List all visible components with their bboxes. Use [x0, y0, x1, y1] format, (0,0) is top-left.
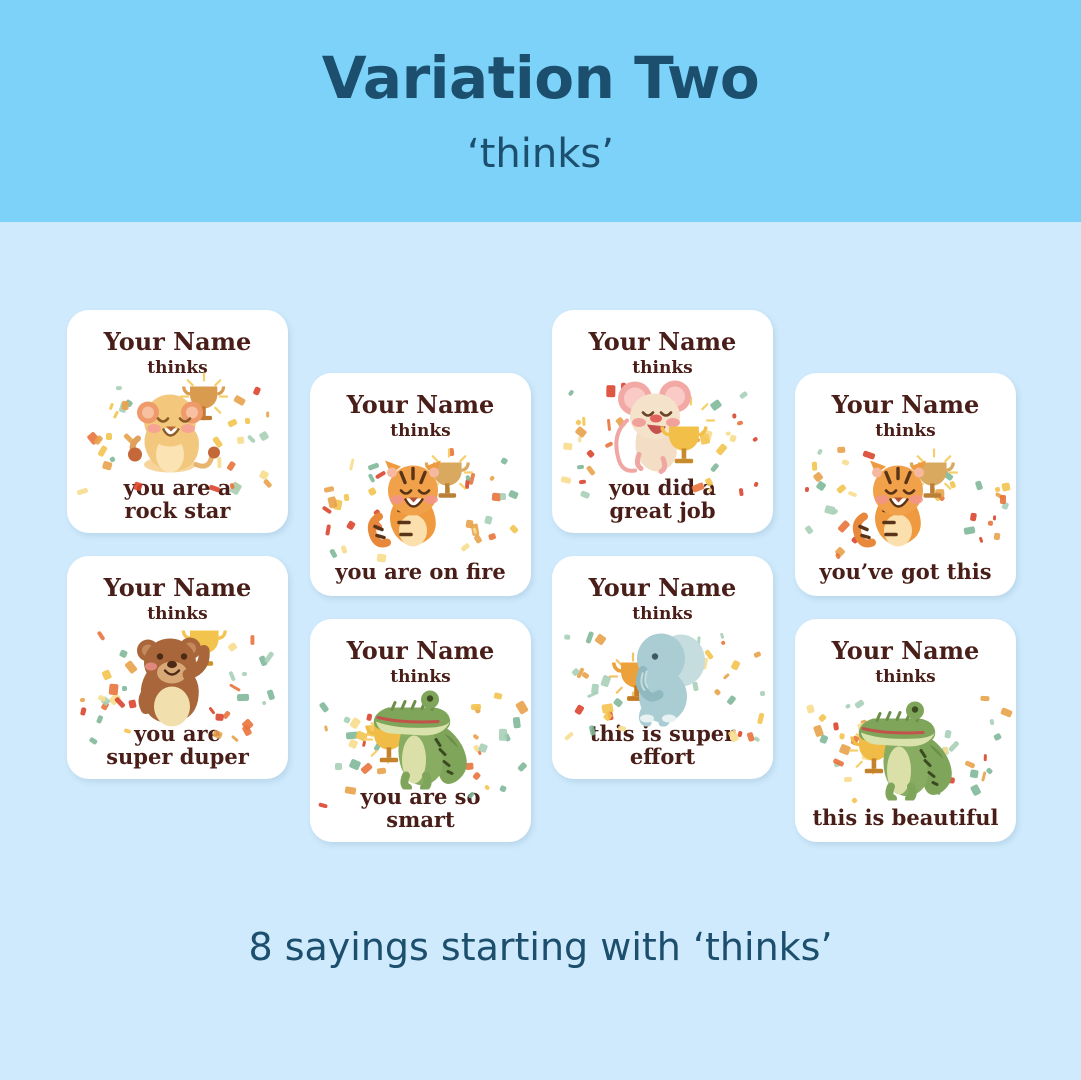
confetti-piece [813, 472, 824, 483]
confetti-piece [969, 513, 976, 522]
confetti-piece [582, 417, 586, 427]
confetti-piece [237, 694, 249, 701]
confetti-piece [324, 725, 328, 732]
sticker-card[interactable]: Your Namethinks this is supereffort [552, 556, 773, 779]
confetti-piece [335, 762, 343, 769]
card-saying: you are on fire [318, 560, 523, 584]
confetti-piece [574, 704, 585, 716]
confetti-piece [1000, 707, 1013, 718]
confetti-piece [574, 426, 587, 438]
confetti-piece [813, 461, 818, 471]
card-verb: thinks [875, 423, 935, 440]
confetti-piece [732, 413, 736, 418]
mouse-illustration [603, 369, 723, 486]
sticker-card[interactable]: Your Namethinks you did agreat job [552, 310, 773, 533]
card-name-placeholder: Your Name [832, 639, 980, 663]
tiger-illustration [361, 443, 481, 560]
confetti-piece [106, 433, 112, 441]
card-artwork [310, 442, 531, 560]
tiger-illustration [846, 443, 966, 560]
confetti-piece [266, 689, 275, 700]
confetti-piece [500, 493, 506, 500]
confetti-piece [97, 630, 106, 641]
confetti-piece [978, 537, 983, 543]
confetti-piece [109, 456, 116, 463]
sticker-preview-page: Variation Two ‘thinks’ Your Namethinks [0, 0, 1081, 1080]
card-saying: you’ve got this [803, 560, 1008, 584]
confetti-piece [993, 533, 1000, 541]
confetti-piece [993, 515, 997, 521]
bear-illustration [118, 615, 238, 732]
card-name-placeholder: Your Name [104, 330, 252, 354]
confetti-piece [752, 437, 759, 444]
confetti-piece [585, 631, 594, 644]
confetti-piece [109, 403, 114, 410]
card-verb: thinks [390, 423, 450, 440]
confetti-piece [517, 762, 528, 773]
confetti-piece [487, 532, 496, 540]
confetti-piece [264, 651, 275, 663]
confetti-piece [259, 431, 270, 442]
sticker-card[interactable]: Your Namethinks you aresuper duper [67, 556, 288, 779]
card-verb: thinks [875, 669, 935, 686]
confetti-piece [347, 738, 357, 748]
card-artwork [795, 442, 1016, 560]
confetti-piece [818, 714, 827, 723]
page-subtitle: ‘thinks’ [467, 131, 614, 177]
confetti-piece [329, 548, 338, 558]
crocodile-illustration [358, 678, 484, 795]
confetti-piece [568, 389, 575, 396]
confetti-piece [242, 672, 247, 676]
confetti-piece [576, 464, 584, 469]
card-name-placeholder: Your Name [347, 639, 495, 663]
confetti-piece [349, 459, 355, 471]
confetti-piece [325, 524, 331, 535]
confetti-piece [833, 722, 839, 731]
confetti-piece [341, 544, 348, 553]
card-artwork [795, 688, 1016, 806]
confetti-piece [508, 490, 519, 500]
confetti-piece [101, 669, 112, 681]
footer-caption: 8 sayings starting with ‘thinks’ [0, 925, 1081, 969]
card-name-placeholder: Your Name [589, 330, 737, 354]
confetti-piece [806, 705, 815, 715]
confetti-piece [247, 434, 256, 443]
confetti-piece [805, 487, 809, 492]
confetti-piece [819, 735, 828, 745]
confetti-piece [985, 768, 993, 776]
page-title: Variation Two [322, 48, 760, 109]
confetti-piece [723, 673, 730, 680]
confetti-piece [995, 486, 1002, 492]
confetti-piece [250, 635, 254, 645]
sticker-card[interactable]: Your Namethinks you are arock star [67, 310, 288, 533]
confetti-piece [494, 693, 503, 701]
confetti-piece [80, 697, 85, 702]
confetti-piece [319, 701, 330, 712]
confetti-piece [564, 634, 571, 639]
confetti-piece [729, 435, 737, 444]
confetti-piece [327, 496, 338, 508]
card-artwork [67, 625, 288, 722]
confetti-piece [579, 479, 586, 484]
card-name-placeholder: Your Name [104, 576, 252, 600]
confetti-piece [484, 515, 492, 524]
card-artwork [552, 625, 773, 722]
confetti-piece [816, 448, 823, 455]
confetti-piece [1000, 495, 1006, 504]
confetti-piece [980, 695, 989, 701]
confetti-piece [964, 526, 976, 535]
confetti-piece [759, 691, 765, 697]
confetti-piece [987, 520, 992, 525]
confetti-piece [563, 443, 572, 451]
confetti-piece [970, 769, 979, 778]
confetti-piece [512, 717, 521, 729]
confetti-piece [983, 754, 987, 761]
confetti-piece [261, 700, 267, 706]
sticker-card[interactable]: Your Namethinks you’ve got this [795, 373, 1016, 596]
header-banner: Variation Two ‘thinks’ [0, 0, 1081, 222]
lion-cub-illustration [118, 369, 238, 486]
card-name-placeholder: Your Name [832, 393, 980, 417]
confetti-piece [500, 456, 508, 464]
confetti-piece [80, 706, 86, 715]
sticker-card[interactable]: Your Namethinks you are sosmart [310, 619, 531, 842]
confetti-piece [499, 729, 507, 741]
confetti-piece [753, 651, 761, 658]
confetti-piece [975, 480, 983, 490]
sticker-card[interactable]: Your Namethinks you are on fire [310, 373, 531, 596]
card-artwork [552, 379, 773, 476]
confetti-piece [345, 521, 355, 531]
confetti-piece [509, 524, 519, 534]
confetti-piece [586, 449, 595, 459]
card-name-placeholder: Your Name [347, 393, 495, 417]
confetti-piece [586, 465, 596, 476]
sticker-card[interactable]: Your Namethinks this is beautiful [795, 619, 1016, 842]
confetti-piece [736, 420, 743, 425]
crocodile-illustration [843, 689, 969, 806]
confetti-piece [236, 436, 244, 444]
confetti-piece [343, 494, 349, 502]
confetti-piece [1002, 482, 1011, 491]
confetti-piece [252, 386, 260, 395]
confetti-piece [990, 719, 996, 726]
sticker-grid: Your Namethinks you are arock starYour N… [0, 222, 1081, 925]
confetti-piece [970, 784, 981, 796]
card-artwork [310, 688, 531, 785]
confetti-piece [726, 694, 737, 705]
confetti-piece [323, 486, 333, 492]
confetti-piece [582, 672, 591, 680]
confetti-piece [804, 524, 814, 534]
confetti-piece [489, 475, 496, 482]
confetti-piece [993, 732, 1002, 740]
card-saying: this is beautiful [803, 806, 1008, 830]
confetti-piece [739, 391, 749, 400]
confetti-piece [730, 660, 740, 671]
confetti-piece [266, 412, 269, 418]
confetti-piece [97, 445, 108, 458]
confetti-piece [515, 700, 529, 715]
confetti-piece [981, 771, 986, 781]
confetti-piece [245, 418, 250, 424]
card-name-placeholder: Your Name [589, 576, 737, 600]
confetti-piece [575, 419, 582, 426]
card-artwork [67, 379, 288, 476]
elephant-illustration [603, 615, 723, 732]
confetti-piece [816, 481, 828, 493]
